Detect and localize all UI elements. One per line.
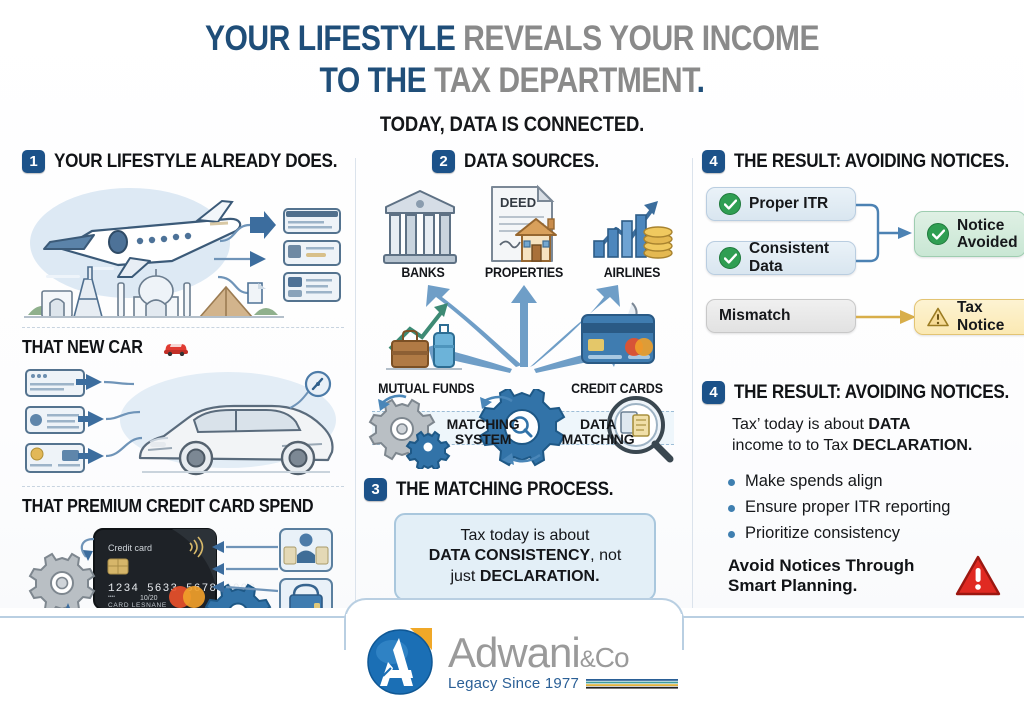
warning-triangle-icon	[927, 307, 949, 327]
source-label-properties: PROPERTIES	[480, 265, 568, 280]
bubble-line-2: DATA CONSISTENCY, not	[410, 546, 640, 566]
section-4b-paragraph: Tax’ today is about DATA income to to Ta…	[732, 414, 1008, 456]
section-car-title: THAT NEW CAR	[22, 337, 143, 358]
flowbox-label-tax-notice: Tax Notice	[957, 299, 1023, 335]
adwani-a-monogram-logo	[366, 624, 438, 696]
column-divider-right	[692, 158, 693, 618]
deed-document-house-icon: DEED	[492, 187, 556, 261]
left-divider-2	[22, 486, 344, 487]
para-line2-bold: DECLARATION.	[853, 437, 973, 454]
section-1-badge: 1	[22, 150, 45, 173]
flowbox-proper-itr[interactable]: Proper ITR	[706, 187, 856, 221]
red-car-icon	[163, 340, 189, 356]
brand-name-row: Adwani&Co	[448, 632, 678, 674]
flowbox-label-mismatch: Mismatch	[719, 307, 791, 325]
coin-stack-icon	[644, 227, 672, 258]
car-data-svg	[22, 362, 344, 486]
bubble-bold-consistency: DATA CONSISTENCY	[429, 547, 590, 564]
title-part-tothe: TO THE	[319, 61, 434, 100]
green-check-icon	[927, 223, 949, 245]
header: YOUR LIFESTYLE REVEALS YOUR INCOME TO TH…	[0, 18, 1024, 137]
footer-tab-mask	[346, 614, 682, 620]
section-card-title: THAT PREMIUM CREDIT CARD SPEND	[22, 496, 313, 517]
list-item: Prioritize consistency	[728, 524, 1008, 544]
flowbox-label-notice-avoided: Notice Avoided	[957, 217, 1018, 251]
flowbox-tax-notice[interactable]: Tax Notice	[914, 299, 1024, 335]
section-3-title: THE MATCHING PROCESS.	[396, 479, 613, 501]
green-check-icon	[719, 193, 741, 215]
data-matching-line2: MATCHING	[562, 431, 635, 447]
speedometer-icon	[306, 372, 330, 396]
title-part-taxdept: TAX DEPARTMENT	[434, 61, 697, 100]
flowbox-label-consistent-data: Consistent Data	[749, 240, 843, 276]
matching-system-label: MATCHING SYSTEM	[440, 417, 526, 447]
recommendations-list: Make spends align Ensure proper ITR repo…	[728, 472, 1008, 543]
page-subtitle: TODAY, DATA IS CONNECTED.	[61, 113, 962, 137]
arrow-heads	[248, 211, 276, 303]
flowbox-notice-avoided[interactable]: Notice Avoided	[914, 211, 1024, 257]
column-divider-left	[355, 158, 356, 618]
section-4b-heading: 4 THE RESULT: AVOIDING NOTICES.	[702, 381, 1008, 404]
page-title-line-2: TO THE TAX DEPARTMENT.	[72, 60, 953, 102]
data-matching-label: DATA MATCHING	[554, 417, 642, 447]
section-2-badge: 2	[432, 150, 455, 173]
brand-co: Co	[595, 642, 629, 673]
new-car-illustration	[22, 362, 344, 486]
title-part-lifestyle: YOUR LIFESTYLE	[205, 19, 463, 58]
tagline-stripes-icon	[586, 679, 678, 689]
brand-tagline-row: Legacy Since 1977	[448, 675, 678, 692]
brand-tagline: Legacy Since 1977	[448, 675, 579, 692]
credit-cards-icon	[582, 303, 654, 363]
infographic-canvas: YOUR LIFESTYLE REVEALS YOUR INCOME TO TH…	[0, 0, 1024, 704]
source-label-banks: BANKS	[389, 265, 457, 280]
lifestyle-travel-illustration	[22, 179, 344, 327]
bubble-line-3: just DECLARATION.	[410, 567, 640, 587]
credit-card-label: Credit card	[108, 543, 152, 553]
green-check-icon	[719, 247, 741, 269]
para-line1-bold: DATA	[868, 416, 910, 433]
jet-landmarks-svg	[22, 179, 344, 327]
bubble-just-text: just	[450, 568, 479, 585]
brand-wordmark: Adwani&Co Legacy Since 1977	[448, 628, 678, 692]
data-sources-illustration: DEED	[364, 181, 682, 466]
closing-line-1: Avoid Notices Through	[728, 556, 914, 575]
data-matching-line1: DATA	[580, 416, 616, 432]
para-line2-pre: income to to Tax	[732, 437, 853, 454]
notice-avoided-line2: Avoided	[957, 234, 1018, 251]
para-line1-pre: Tax’ today is about	[732, 416, 868, 433]
notice-avoided-line1: Notice	[957, 217, 1004, 234]
result-flow-diagram: Proper ITR Consistent Data Notice	[702, 187, 1008, 377]
section-4b-badge: 4	[702, 381, 725, 404]
closing-line-2: Smart Planning.	[728, 576, 857, 595]
footer: Adwani&Co Legacy Since 1977	[0, 608, 1024, 704]
mastercard-logo	[169, 586, 205, 608]
source-label-airlines: AIRLINES	[595, 265, 669, 280]
brand-logo: Adwani&Co Legacy Since 1977	[366, 624, 678, 696]
list-item: Make spends align	[728, 472, 1008, 492]
briefcase-luggage-growth-icon	[386, 303, 462, 369]
middle-column: 2 DATA SOURCES. D	[364, 150, 682, 620]
growth-chart-coins-icon	[594, 201, 672, 258]
bubble-mid-text: , not	[590, 547, 621, 564]
right-column: 4 THE RESULT: AVOIDING NOTICES. Proper I…	[702, 150, 1008, 620]
left-divider-1	[22, 327, 344, 328]
section-4a-heading: 4 THE RESULT: AVOIDING NOTICES.	[702, 150, 1008, 173]
flowbox-label-proper-itr: Proper ITR	[749, 195, 828, 213]
brand-ampersand: &	[580, 646, 595, 673]
red-alert-triangle-icon	[954, 554, 1002, 598]
bank-building-icon	[384, 191, 456, 263]
list-item: Ensure proper ITR reporting	[728, 498, 1008, 518]
grey-gear-left	[30, 554, 94, 613]
section-4b-title: THE RESULT: AVOIDING NOTICES.	[734, 382, 1009, 404]
deed-label: DEED	[500, 195, 536, 210]
page-title-line-1: YOUR LIFESTYLE REVEALS YOUR INCOME	[72, 18, 953, 60]
matching-process-bubble: Tax today is about DATA CONSISTENCY, not…	[394, 513, 656, 601]
section-1-title: YOUR LIFESTYLE ALREADY DOES.	[54, 151, 337, 173]
section-1-heading: 1 YOUR LIFESTYLE ALREADY DOES.	[22, 150, 344, 173]
section-4a-title: THE RESULT: AVOIDING NOTICES.	[734, 151, 1009, 173]
credit-card-expiry: 10/20	[140, 595, 158, 602]
bubble-line-1: Tax today is about	[410, 526, 640, 546]
credit-card-expiry-label: ••••	[108, 594, 115, 600]
brand-name: Adwani	[448, 629, 580, 676]
section-2-title: DATA SOURCES.	[464, 151, 599, 173]
title-part-reveals: REVEALS YOUR INCOME	[463, 19, 819, 58]
car-record-cards	[26, 370, 84, 472]
section-4a-badge: 4	[702, 150, 725, 173]
flow-connector-ok	[854, 197, 914, 297]
section-card-heading: THAT PREMIUM CREDIT CARD SPEND	[22, 496, 344, 517]
section-2-heading: 2 DATA SOURCES.	[364, 150, 682, 173]
left-column: 1 YOUR LIFESTYLE ALREADY DOES.	[22, 150, 344, 620]
flow-connector-bad	[856, 307, 918, 327]
flowbox-mismatch[interactable]: Mismatch	[706, 299, 856, 333]
section-3-heading: 3 THE MATCHING PROCESS.	[364, 478, 682, 501]
bubble-bold-declaration: DECLARATION.	[480, 568, 600, 585]
record-card-list	[284, 209, 340, 301]
matching-label-line2: SYSTEM	[455, 431, 511, 447]
section-car-heading: THAT NEW CAR	[22, 337, 344, 358]
section-3-badge: 3	[364, 478, 387, 501]
matching-label-line1: MATCHING	[447, 416, 520, 432]
title-period: .	[697, 61, 705, 100]
flowbox-consistent-data[interactable]: Consistent Data	[706, 241, 856, 275]
